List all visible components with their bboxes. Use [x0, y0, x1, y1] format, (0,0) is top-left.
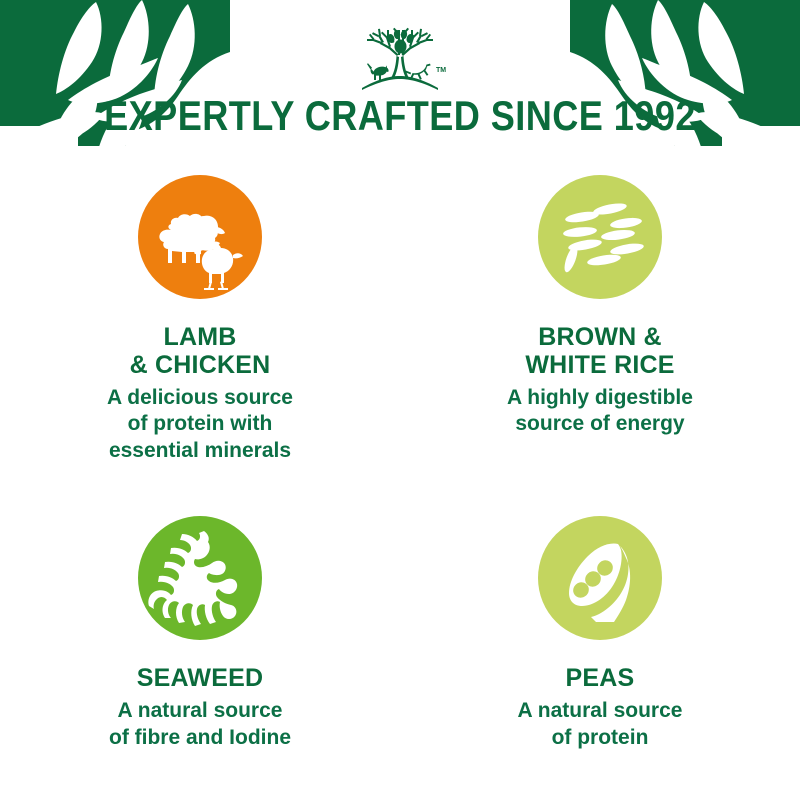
feature-desc-line1: A delicious source — [107, 385, 293, 411]
feature-title: LAMB & CHICKEN — [130, 323, 271, 379]
feature-desc-line2: of fibre and Iodine — [109, 725, 291, 751]
feature-title-line2: & CHICKEN — [130, 351, 271, 379]
feature-desc-line2: source of energy — [507, 411, 693, 437]
feature-description: A highly digestible source of energy — [507, 385, 693, 438]
feature-desc-line2: of protein — [518, 725, 683, 751]
feature-title: PEAS — [566, 664, 635, 692]
feature-description: A natural source of fibre and Iodine — [109, 698, 291, 751]
feature-desc-line1: A natural source — [109, 698, 291, 724]
feature-title: SEAWEED — [137, 664, 263, 692]
feature-desc-line1: A highly digestible — [507, 385, 693, 411]
header-banner: TM EXPERTLY CRAFTED SINCE 1992 — [0, 0, 800, 160]
feature-description: A natural source of protein — [518, 698, 683, 751]
trademark-symbol: TM — [436, 67, 446, 74]
feature-title: BROWN & WHITE RICE — [525, 323, 674, 379]
feature-grid: LAMB & CHICKEN A delicious source of pro… — [0, 175, 800, 751]
feature-description: A delicious source of protein with essen… — [107, 385, 293, 464]
pea-pod-icon — [538, 516, 662, 640]
feature-item-seaweed: SEAWEED A natural source of fibre and Io… — [0, 516, 400, 751]
feature-item-rice: BROWN & WHITE RICE A highly digestible s… — [400, 175, 800, 464]
feature-title-line1: LAMB — [130, 323, 271, 351]
feature-title-line1: BROWN & — [525, 323, 674, 351]
feature-title-line1: SEAWEED — [137, 664, 263, 692]
feature-desc-line3: essential minerals — [107, 438, 293, 464]
feature-title-line2: WHITE RICE — [525, 351, 674, 379]
feature-title-line1: PEAS — [566, 664, 635, 692]
feature-item-peas: PEAS A natural source of protein — [400, 516, 800, 751]
page-root: TM EXPERTLY CRAFTED SINCE 1992 — [0, 0, 800, 800]
rice-grains-icon — [538, 175, 662, 299]
feature-desc-line2: of protein with — [107, 411, 293, 437]
page-title: EXPERTLY CRAFTED SINCE 1992 — [56, 92, 744, 140]
feature-item-lamb-chicken: LAMB & CHICKEN A delicious source of pro… — [0, 175, 400, 464]
feature-desc-line1: A natural source — [518, 698, 683, 724]
tree-with-paw-cat-dog-logo: TM — [348, 22, 452, 96]
seaweed-icon — [138, 516, 262, 640]
lamb-and-chicken-icon — [138, 175, 262, 299]
